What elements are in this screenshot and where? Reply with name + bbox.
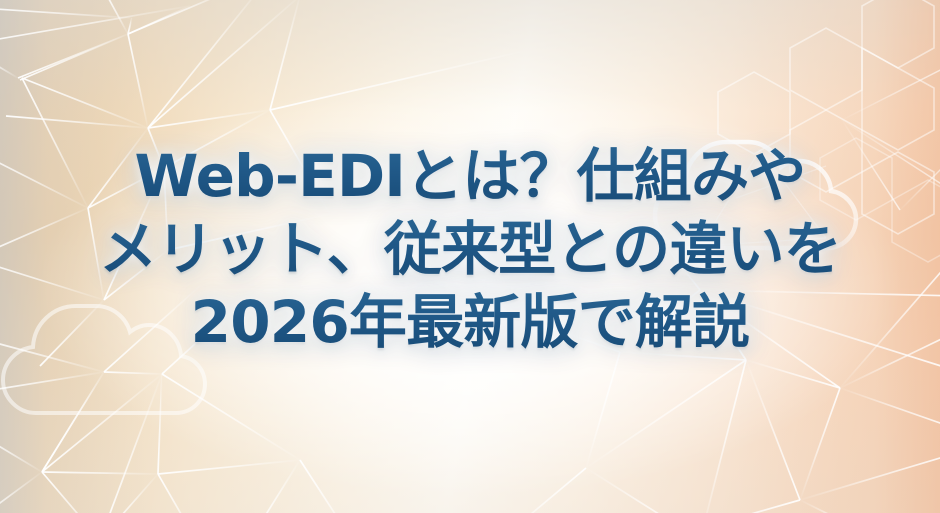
title-line-1: Web-EDIとは？仕組みや: [135, 140, 806, 213]
eyecatch-canvas: Web-EDIとは？仕組みや メリット、従来型との違いを 2026年最新版で解説: [0, 0, 940, 513]
page-title: Web-EDIとは？仕組みや メリット、従来型との違いを 2026年最新版で解説: [0, 140, 940, 359]
title-line-2: メリット、従来型との違いを: [99, 213, 841, 286]
title-line-3: 2026年最新版で解説: [191, 286, 750, 359]
